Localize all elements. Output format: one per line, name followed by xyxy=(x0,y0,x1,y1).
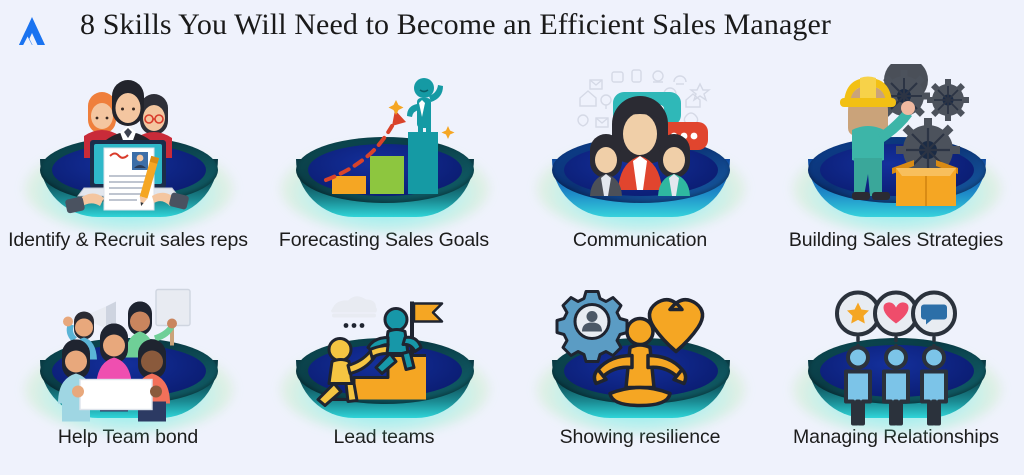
skills-row-bottom: Help Team bond xyxy=(0,274,1024,475)
skill-card-1[interactable]: Identify & Recruit sales reps xyxy=(0,62,256,268)
skills-row-top: Identify & Recruit sales reps xyxy=(0,62,1024,268)
disc-platform xyxy=(296,338,474,424)
recruiters-with-resume-icon xyxy=(28,64,228,229)
disc-platform xyxy=(40,137,218,223)
worker-gears-box-icon xyxy=(796,64,996,229)
skill-card-3[interactable]: Communication xyxy=(512,62,768,268)
disc-platform xyxy=(552,137,730,223)
skill-card-4[interactable]: Building Sales Strategies xyxy=(768,62,1024,268)
disc-platform xyxy=(552,338,730,424)
growth-bar-chart-icon xyxy=(284,64,484,229)
skills-grid: Identify & Recruit sales reps xyxy=(0,62,1024,475)
disc-platform xyxy=(40,338,218,424)
meditating-person-heart-icon xyxy=(540,280,740,430)
disc-platform xyxy=(808,137,986,223)
people-speech-bubbles-icon xyxy=(540,64,740,229)
infographic-page: 8 Skills You Will Need to Become an Effi… xyxy=(0,0,1024,475)
skill-card-7[interactable]: Showing resilience xyxy=(512,274,768,475)
disc-platform xyxy=(808,338,986,424)
mountain-logo-icon xyxy=(10,12,54,52)
team-group-banner-icon xyxy=(28,280,228,430)
skill-card-5[interactable]: Help Team bond xyxy=(0,274,256,475)
page-title: 8 Skills You Will Need to Become an Effi… xyxy=(80,8,1000,42)
skill-card-8[interactable]: Managing Relationships xyxy=(768,274,1024,475)
three-people-badges-icon xyxy=(796,280,996,430)
header: 8 Skills You Will Need to Become an Effi… xyxy=(0,0,1024,62)
disc-platform xyxy=(296,137,474,223)
climbing-stairs-flag-icon xyxy=(284,280,484,430)
skill-card-6[interactable]: Lead teams xyxy=(256,274,512,475)
skill-card-2[interactable]: Forecasting Sales Goals xyxy=(256,62,512,268)
